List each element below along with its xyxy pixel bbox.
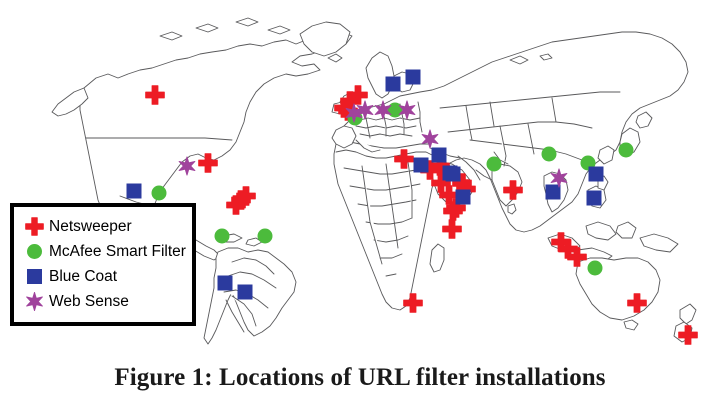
- legend-label-websense: Web Sense: [49, 294, 129, 310]
- square-icon: [22, 266, 46, 288]
- map-marker-web-sense: [178, 157, 197, 176]
- figure-container: Netsweeper McAfee Smart Filter Blue Coat…: [0, 0, 720, 416]
- legend-label-bluecoat: Blue Coat: [49, 269, 117, 285]
- arctic-island-2: [268, 26, 290, 34]
- map-marker-netsweeper: [442, 219, 462, 239]
- map-marker-netsweeper: [231, 190, 251, 210]
- borneo-landmass: [586, 222, 616, 240]
- plus-cross-icon: [22, 216, 46, 238]
- legend-box: Netsweeper McAfee Smart Filter Blue Coat…: [10, 203, 196, 326]
- map-marker-blue-coat: [386, 77, 401, 92]
- map-marker-web-sense: [421, 130, 440, 149]
- map-marker-mcafee-smart-filter: [152, 186, 167, 201]
- map-marker-netsweeper: [627, 293, 647, 313]
- map-marker-blue-coat: [218, 276, 233, 291]
- circle-icon: [22, 241, 46, 263]
- map-marker-netsweeper: [558, 239, 578, 259]
- map-marker-netsweeper: [503, 180, 523, 200]
- tasmania-landmass: [624, 320, 638, 330]
- legend-item-websense: Web Sense: [22, 289, 184, 314]
- map-marker-mcafee-smart-filter: [542, 147, 557, 162]
- map-marker-blue-coat: [446, 167, 461, 182]
- map-marker-blue-coat: [587, 191, 602, 206]
- map-marker-blue-coat: [589, 167, 604, 182]
- star-icon: [22, 291, 46, 313]
- map-marker-web-sense: [398, 101, 417, 120]
- legend-label-mcafee: McAfee Smart Filter: [49, 244, 186, 260]
- figure-caption: Figure 1: Locations of URL filter instal…: [0, 364, 720, 392]
- map-marker-blue-coat: [456, 190, 471, 205]
- map-marker-mcafee-smart-filter: [215, 229, 230, 244]
- map-marker-web-sense: [374, 101, 393, 120]
- arctic-island-5: [160, 32, 182, 40]
- map-marker-mcafee-smart-filter: [619, 143, 634, 158]
- map-marker-netsweeper: [678, 325, 698, 345]
- map-marker-blue-coat: [406, 70, 421, 85]
- map-marker-netsweeper: [198, 153, 218, 173]
- map-marker-netsweeper: [394, 149, 414, 169]
- map-marker-mcafee-smart-filter: [487, 157, 502, 172]
- sulawesi-landmass: [616, 222, 636, 238]
- legend-item-mcafee: McAfee Smart Filter: [22, 239, 184, 264]
- legend-label-netsweeper: Netsweeper: [49, 219, 132, 235]
- map-marker-blue-coat: [238, 285, 253, 300]
- arctic-island-3: [236, 18, 258, 26]
- map-marker-web-sense: [345, 104, 364, 123]
- map-marker-blue-coat: [414, 158, 429, 173]
- map-marker-netsweeper: [145, 85, 165, 105]
- iceland-landmass: [328, 54, 342, 62]
- hokkaido-landmass: [636, 112, 652, 128]
- new-guinea-landmass: [640, 234, 678, 252]
- nz-north-island: [680, 304, 696, 324]
- arctic-island-4: [196, 24, 218, 32]
- map-marker-blue-coat: [127, 184, 142, 199]
- map-marker-netsweeper: [403, 293, 423, 313]
- map-marker-web-sense: [550, 169, 569, 188]
- map-marker-blue-coat: [432, 148, 447, 163]
- map-marker-mcafee-smart-filter: [258, 229, 273, 244]
- legend-item-netsweeper: Netsweeper: [22, 214, 184, 239]
- map-marker-mcafee-smart-filter: [588, 261, 603, 276]
- legend-item-bluecoat: Blue Coat: [22, 264, 184, 289]
- madagascar-landmass: [430, 244, 444, 272]
